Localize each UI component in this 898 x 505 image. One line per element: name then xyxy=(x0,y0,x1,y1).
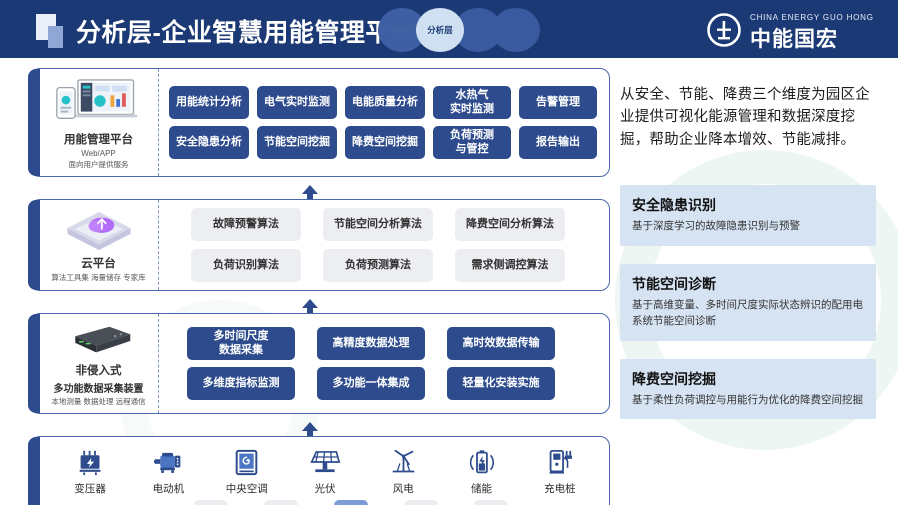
right-panel: 从安全、节能、降费三个维度为园区企业提供可视化能源管理和数据深度挖掘，帮助企业降… xyxy=(620,84,876,419)
card-description: 基于深度学习的故障隐患识别与预警 xyxy=(632,219,864,235)
energy-tag-water[interactable]: 水 xyxy=(404,500,438,505)
energy-tag-cold[interactable]: 冷 xyxy=(264,500,298,505)
motor-icon xyxy=(131,445,205,479)
row-platform-sub: Web/APP xyxy=(81,149,116,158)
function-button-energy-saving-space-mining[interactable]: 节能空间挖掘 xyxy=(257,126,337,159)
function-button-load-forecast-control[interactable]: 负荷预测 与管控 xyxy=(433,126,511,159)
card-description: 基于柔性负荷调控与用能行为优化的降费空间挖掘 xyxy=(632,393,864,409)
row-collector-sub2: 本地测量 数据处理 远程通信 xyxy=(51,396,145,407)
row-collector-identity: 非侵入式 多功能数据采集装置 本地测量 数据处理 远程通信 xyxy=(31,314,159,413)
row-cloud-line1: 故障预警算法 节能空间分析算法 降费空间分析算法 xyxy=(169,208,599,241)
row-accent-bar xyxy=(28,314,40,413)
layer-ellipse-analysis-active[interactable]: 分析层 xyxy=(416,8,464,52)
layer-label: 服务层 xyxy=(465,24,491,36)
row-collector-sub: 多功能数据采集装置 xyxy=(54,380,144,395)
function-button-report-output[interactable]: 报告输出 xyxy=(519,126,597,159)
guohong-logo-icon xyxy=(706,12,742,48)
row-platform-functions: 用能统计分析 电气实时监测 电能质量分析 水热气 实时监测 告警管理 安全隐患分… xyxy=(159,69,609,176)
arrow-platform-up xyxy=(30,185,610,199)
feature-button-multifunction-integration[interactable]: 多功能一体集成 xyxy=(317,367,425,400)
energy-tag-electricity-active[interactable]: 电 xyxy=(334,500,368,505)
highlight-card-energy-saving[interactable]: 节能空间诊断 基于高维变量、多时间尺度实际状态辨识的配用电系统节能空间诊断 xyxy=(620,264,876,341)
row-cloud-line2: 负荷识别算法 负荷预测算法 需求侧调控算法 xyxy=(169,249,599,282)
page-header: 分析层-企业智慧用能管理平台 采集层 服务层 交易层 分析层 xyxy=(0,0,898,58)
row-platform-sub2: 面向用户提供服务 xyxy=(69,159,129,170)
layer-label: 采集层 xyxy=(389,24,415,36)
device-label: 变压器 xyxy=(53,481,127,496)
device-label: 储能 xyxy=(445,481,519,496)
algorithm-button-fault-warning[interactable]: 故障预警算法 xyxy=(191,208,301,241)
function-button-water-heat-gas-monitoring[interactable]: 水热气 实时监测 xyxy=(433,86,511,119)
feature-button-high-speed-transmission[interactable]: 高时效数据传输 xyxy=(447,327,555,360)
device-motor[interactable]: 电动机 xyxy=(131,445,205,496)
solar-panel-icon xyxy=(288,445,362,479)
transformer-icon xyxy=(53,445,127,479)
battery-storage-icon xyxy=(445,445,519,479)
energy-tag-heat[interactable]: 热 xyxy=(194,500,228,505)
feature-button-lightweight-installation[interactable]: 轻量化安装实施 xyxy=(447,367,555,400)
company-logo: CHINA ENERGY GUO HONG 中能国宏 xyxy=(706,10,876,50)
function-button-alarm-management[interactable]: 告警管理 xyxy=(519,86,597,119)
row-platform-line2: 安全隐患分析 节能空间挖掘 降费空间挖掘 负荷预测 与管控 报告输出 xyxy=(169,126,599,159)
intro-paragraph: 从安全、节能、降费三个维度为园区企业提供可视化能源管理和数据深度挖掘，帮助企业降… xyxy=(620,84,876,151)
device-list: 变压器 xyxy=(51,445,599,496)
row-accent-bar xyxy=(28,437,40,505)
device-wind[interactable]: 风电 xyxy=(366,445,440,496)
architecture-stack: 用能管理平台 Web/APP 面向用户提供服务 用能统计分析 电气实时监测 电能… xyxy=(30,68,610,505)
function-button-safety-hazard-analysis[interactable]: 安全隐患分析 xyxy=(169,126,249,159)
card-title: 节能空间诊断 xyxy=(632,274,864,294)
logo-chinese-name: 中能国宏 xyxy=(750,23,838,53)
data-collector-box-icon xyxy=(62,321,136,359)
feature-button-multi-timescale-collection[interactable]: 多时间尺度 数据采集 xyxy=(187,327,295,360)
energy-type-tags: 热 冷 电 xyxy=(51,500,599,505)
row-accent-bar xyxy=(28,200,40,290)
slide-root: 分析层-企业智慧用能管理平台 采集层 服务层 交易层 分析层 xyxy=(0,0,898,505)
row-cloud-sub: 算法工具集 海量储存 专家库 xyxy=(51,272,145,283)
page-title: 分析层-企业智慧用能管理平台 xyxy=(76,13,416,49)
wind-turbine-icon xyxy=(366,445,440,479)
row-devices: 变压器 xyxy=(30,436,610,505)
row-cloud-algorithms: 故障预警算法 节能空间分析算法 降费空间分析算法 负荷识别算法 负荷预测算法 需… xyxy=(159,200,609,290)
arrow-collector-up xyxy=(30,422,610,436)
row-platform-caption: 用能管理平台 xyxy=(64,131,133,147)
device-central-ac[interactable]: 中央空调 xyxy=(210,445,284,496)
row-platform-identity: 用能管理平台 Web/APP 面向用户提供服务 xyxy=(31,69,159,176)
energy-tag-gas[interactable]: 气 xyxy=(474,500,508,505)
central-air-conditioner-icon xyxy=(210,445,284,479)
row-collector-features: 多时间尺度 数据采集 高精度数据处理 高时效数据传输 多维度指标监测 多功能一体… xyxy=(159,314,609,413)
row-cloud-caption: 云平台 xyxy=(81,255,116,271)
row-cloud: 云平台 算法工具集 海量储存 专家库 故障预警算法 节能空间分析算法 降费空间分… xyxy=(30,199,610,291)
ev-charger-icon xyxy=(523,445,597,479)
feature-button-multi-dimension-monitoring[interactable]: 多维度指标监测 xyxy=(187,367,295,400)
device-label: 光伏 xyxy=(288,481,362,496)
card-title: 安全隐患识别 xyxy=(632,195,864,215)
row-collector: 非侵入式 多功能数据采集装置 本地测量 数据处理 远程通信 多时间尺度 数据采集… xyxy=(30,313,610,414)
row-accent-bar xyxy=(28,69,40,176)
row-cloud-identity: 云平台 算法工具集 海量储存 专家库 xyxy=(31,200,159,290)
feature-button-high-precision-processing[interactable]: 高精度数据处理 xyxy=(317,327,425,360)
cloud-platform-icon xyxy=(63,208,135,252)
row-platform: 用能管理平台 Web/APP 面向用户提供服务 用能统计分析 电气实时监测 电能… xyxy=(30,68,610,177)
row-collector-line2: 多维度指标监测 多功能一体集成 轻量化安装实施 xyxy=(169,367,599,400)
card-title: 降费空间挖掘 xyxy=(632,369,864,389)
device-solar[interactable]: 光伏 xyxy=(288,445,362,496)
function-button-cost-reduction-space-mining[interactable]: 降费空间挖掘 xyxy=(345,126,425,159)
device-storage[interactable]: 储能 xyxy=(445,445,519,496)
laptop-phone-dashboard-icon xyxy=(53,76,145,128)
device-label: 充电桩 xyxy=(523,481,597,496)
algorithm-button-energy-saving-space-analysis[interactable]: 节能空间分析算法 xyxy=(323,208,433,241)
device-label: 电动机 xyxy=(131,481,205,496)
algorithm-button-demand-side-regulation[interactable]: 需求侧调控算法 xyxy=(455,249,565,282)
row-collector-caption: 非侵入式 xyxy=(76,362,122,378)
layer-label: 交易层 xyxy=(503,24,529,36)
device-label: 中央空调 xyxy=(210,481,284,496)
algorithm-button-load-forecast[interactable]: 负荷预测算法 xyxy=(323,249,433,282)
logo-english-name: CHINA ENERGY GUO HONG xyxy=(750,13,874,22)
device-label: 风电 xyxy=(366,481,440,496)
layer-ellipse-trade[interactable]: 交易层 xyxy=(492,8,540,52)
highlight-card-cost-reduction[interactable]: 降费空间挖掘 基于柔性负荷调控与用能行为优化的降费空间挖掘 xyxy=(620,359,876,420)
row-collector-line1: 多时间尺度 数据采集 高精度数据处理 高时效数据传输 xyxy=(169,327,599,360)
card-description: 基于高维变量、多时间尺度实际状态辨识的配用电系统节能空间诊断 xyxy=(632,298,864,330)
device-transformer[interactable]: 变压器 xyxy=(53,445,127,496)
arrow-cloud-up xyxy=(30,299,610,313)
function-button-electrical-realtime-monitoring[interactable]: 电气实时监测 xyxy=(257,86,337,119)
function-button-usage-statistics[interactable]: 用能统计分析 xyxy=(169,86,249,119)
device-ev-charger[interactable]: 充电桩 xyxy=(523,445,597,496)
algorithm-button-load-identification[interactable]: 负荷识别算法 xyxy=(191,249,301,282)
function-button-power-quality-analysis[interactable]: 电能质量分析 xyxy=(345,86,425,119)
header-logo-mark-icon xyxy=(36,14,70,48)
highlight-card-safety[interactable]: 安全隐患识别 基于深度学习的故障隐患识别与预警 xyxy=(620,185,876,246)
row-platform-line1: 用能统计分析 电气实时监测 电能质量分析 水热气 实时监测 告警管理 xyxy=(169,86,599,119)
algorithm-button-cost-reduction-space-analysis[interactable]: 降费空间分析算法 xyxy=(455,208,565,241)
layer-label: 分析层 xyxy=(427,24,453,36)
